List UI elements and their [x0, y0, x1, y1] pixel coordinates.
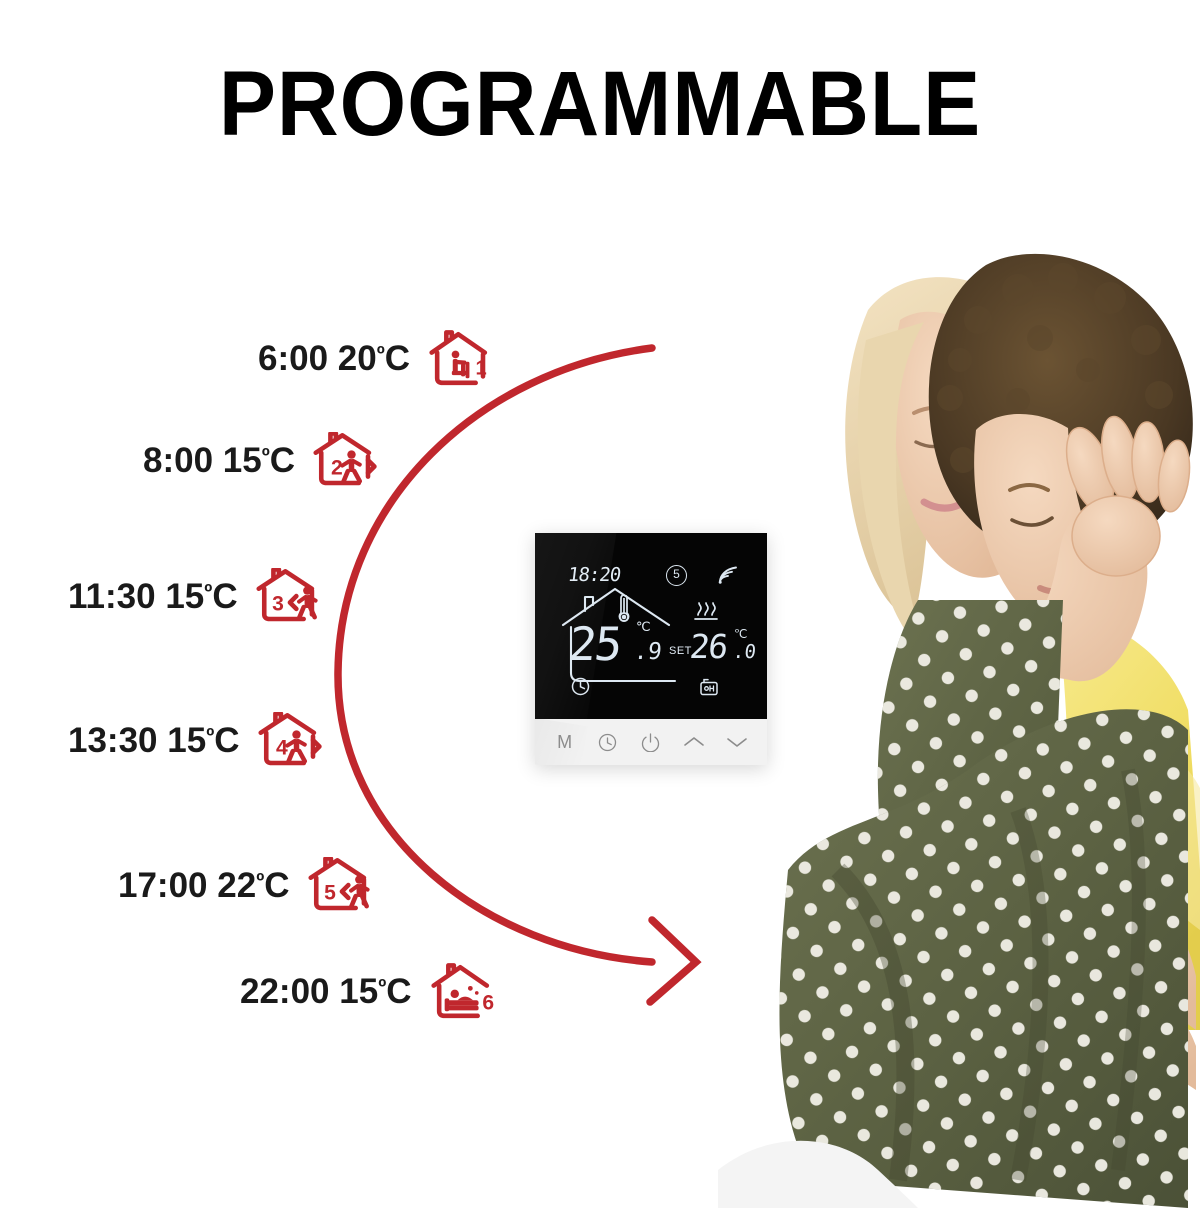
thermostat-device[interactable]: 18:20 5: [535, 533, 767, 765]
heating-waves-icon: [693, 601, 719, 621]
schedule-label-6: 22:00 15ºC: [240, 972, 412, 1012]
lcd-set-temperature: 26: [688, 630, 728, 663]
mode-button-label: M: [557, 732, 572, 753]
power-button[interactable]: [636, 727, 666, 757]
schedule-item-1: 6:00 20ºC 1: [258, 330, 494, 388]
lcd-set-temperature-fraction: .0: [732, 643, 757, 662]
mode-button[interactable]: M: [550, 727, 580, 757]
schedule-label-5: 17:00 22ºC: [118, 866, 290, 906]
lcd-clock: 18:20: [567, 564, 622, 586]
down-button[interactable]: [722, 727, 752, 757]
schedule-label-4: 13:30 15ºC: [68, 721, 240, 761]
schedule-item-3: 11:30 15ºC 3: [68, 568, 322, 626]
wifi-signal-icon: [717, 565, 739, 585]
clock-icon: [598, 733, 617, 752]
chevron-up-icon: [683, 735, 705, 749]
schedule-index-2: 2: [331, 457, 343, 480]
lcd-room-temperature-fraction: .9: [633, 641, 663, 664]
lcd-weekday-badge: 5: [666, 565, 687, 586]
poster-canvas: PROGRAMMABLE: [0, 0, 1200, 1208]
schedule-item-5: 17:00 22ºC 5: [118, 857, 374, 915]
schedule-index-1: 1: [476, 358, 487, 380]
thermostat-button-bar[interactable]: M: [535, 719, 767, 765]
child-lock-icon: [699, 678, 719, 697]
clock-icon: [571, 677, 590, 696]
house-person-entering-icon: 5: [308, 857, 374, 915]
power-icon: [641, 733, 660, 752]
schedule-index-6: 6: [482, 991, 494, 1014]
thermostat-screen[interactable]: 18:20 5: [535, 533, 767, 719]
schedule-label-1: 6:00 20ºC: [258, 339, 410, 379]
clock-button[interactable]: [593, 727, 623, 757]
lcd-room-temperature: 25: [567, 621, 623, 667]
schedule-item-6: 22:00 15ºC 6: [240, 963, 496, 1021]
up-button[interactable]: [679, 727, 709, 757]
schedule-index-5: 5: [324, 882, 336, 905]
house-person-leaving-icon: 4: [258, 712, 324, 770]
house-person-entering-icon: 3: [256, 568, 322, 626]
house-person-leaving-icon: 2: [313, 432, 379, 490]
schedule-item-2: 8:00 15ºC 2: [143, 432, 379, 490]
lifestyle-photo: [718, 170, 1200, 1208]
chevron-down-icon: [726, 735, 748, 749]
page-title: PROGRAMMABLE: [42, 58, 1158, 150]
schedule-index-4: 4: [275, 737, 287, 760]
house-person-sleeping-icon: 6: [430, 963, 496, 1021]
lcd-room-temperature-unit: ℃: [636, 620, 651, 633]
schedule-index-3: 3: [272, 593, 284, 616]
schedule-label-2: 8:00 15ºC: [143, 441, 295, 481]
lcd-set-temperature-unit: ℃: [734, 628, 747, 640]
schedule-item-4: 13:30 15ºC 4: [68, 712, 324, 770]
photo-illustration: [718, 170, 1200, 1208]
schedule-label-3: 11:30 15ºC: [68, 577, 238, 617]
house-person-sitting-icon: 1: [428, 330, 494, 388]
